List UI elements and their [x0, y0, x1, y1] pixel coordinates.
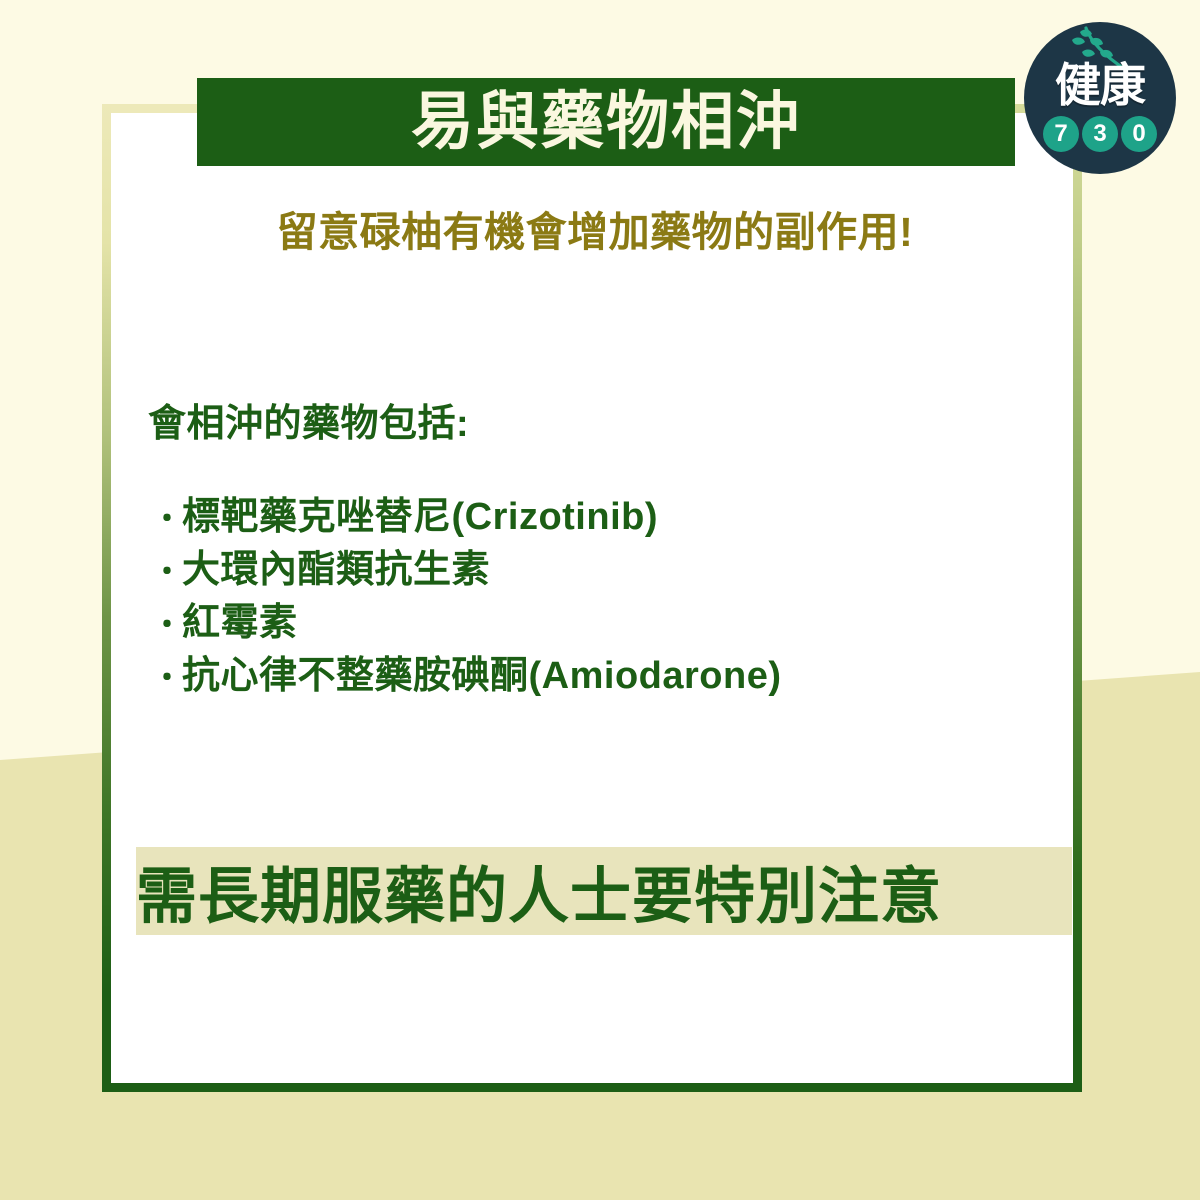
drug-list-heading: 會相沖的藥物包括: [148, 392, 469, 447]
page-title: 易與藥物相沖 [411, 91, 801, 154]
drug-list: ・ 標靶藥克唑替尼(Crizotinib) ・ 大環內酯類抗生素 ・ 紅霉素 ・… [152, 492, 782, 704]
list-item: ・ 標靶藥克唑替尼(Crizotinib) [152, 492, 782, 545]
logo-number-badge: 7 [1043, 116, 1079, 152]
logo-number-badge: 3 [1082, 116, 1118, 152]
card-border-bottom [102, 1083, 1082, 1092]
list-item-label: 標靶藥克唑替尼(Crizotinib) [182, 492, 658, 542]
list-item: ・ 抗心律不整藥胺碘酮(Amiodarone) [152, 651, 782, 704]
list-item: ・ 大環內酯類抗生素 [152, 545, 782, 598]
list-item-label: 紅霉素 [182, 598, 298, 648]
page-subtitle: 留意碌柚有機會增加藥物的副作用! [110, 198, 1080, 258]
logo-number-badges: 7 3 0 [1024, 116, 1176, 152]
footer-note: 需長期服藥的人士要特別注意 [136, 843, 1081, 938]
bullet-icon: ・ [152, 654, 182, 704]
list-item-label: 大環內酯類抗生素 [182, 545, 490, 595]
logo-number-badge: 0 [1121, 116, 1157, 152]
list-item-label: 抗心律不整藥胺碘酮(Amiodarone) [182, 651, 782, 701]
bullet-icon: ・ [152, 548, 182, 598]
title-banner: 易與藥物相沖 [197, 78, 1015, 166]
list-item: ・ 紅霉素 [152, 598, 782, 651]
bullet-icon: ・ [152, 601, 182, 651]
logo-brand-text: 健康 [1024, 62, 1176, 108]
bullet-icon: ・ [152, 495, 182, 545]
brand-logo: 健康 7 3 0 [1024, 22, 1176, 174]
